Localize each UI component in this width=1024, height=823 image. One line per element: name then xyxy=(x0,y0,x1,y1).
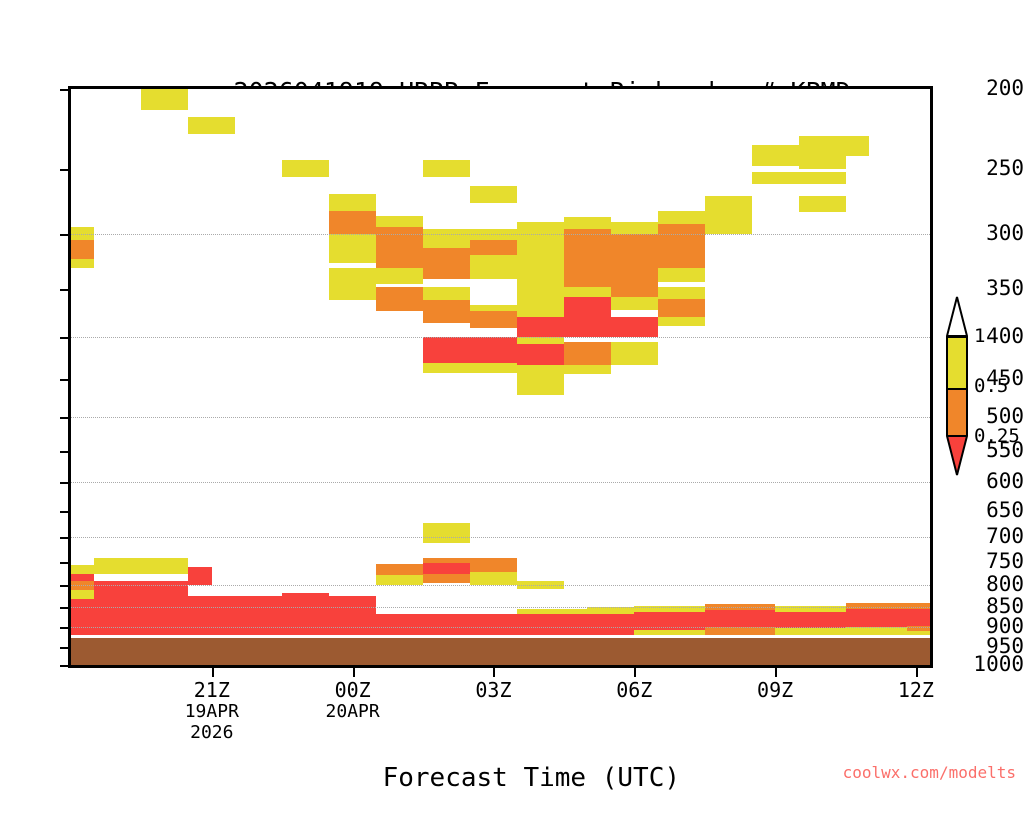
heatmap-cell xyxy=(564,297,611,316)
x-axis-tick-label: 03Z xyxy=(433,679,553,702)
heatmap-cell xyxy=(564,287,611,297)
heatmap-cell xyxy=(329,211,376,234)
heatmap-cell xyxy=(188,567,211,585)
x-axis-tick xyxy=(634,668,636,677)
plot-canvas xyxy=(71,89,930,665)
heatmap-cell xyxy=(517,222,564,234)
heatmap-cell xyxy=(705,627,775,635)
heatmap-cell xyxy=(423,229,470,248)
heatmap-cell xyxy=(564,217,611,229)
x-axis-tick-label: 00Z20APR xyxy=(293,679,413,723)
x-axis-tick xyxy=(493,668,495,677)
x-axis-tick xyxy=(916,668,918,677)
heatmap-cell xyxy=(141,89,188,110)
heatmap-cell xyxy=(423,563,470,574)
gridline-horizontal xyxy=(71,417,930,419)
heatmap-cell xyxy=(611,234,658,287)
heatmap-cell xyxy=(423,160,470,177)
x-axis-tick-label: 12Z xyxy=(856,679,976,702)
heatmap-cell xyxy=(71,581,94,591)
y-axis-tick-label: 300 xyxy=(966,223,1024,244)
heatmap-cell xyxy=(423,300,470,323)
y-axis-tick xyxy=(60,511,69,513)
x-axis-tick xyxy=(212,668,214,677)
heatmap-cell xyxy=(517,317,658,337)
heatmap-cell xyxy=(94,558,188,574)
heatmap-cell xyxy=(423,248,470,279)
heatmap-cell xyxy=(658,287,705,299)
x-tick-time: 03Z xyxy=(475,678,511,702)
heatmap-cell xyxy=(376,216,423,227)
colorbar-band xyxy=(948,388,966,438)
heatmap-cell xyxy=(564,229,611,287)
watermark-text: coolwx.com/modelts xyxy=(843,763,1016,782)
y-axis-tick-label: 600 xyxy=(966,471,1024,492)
heatmap-cell xyxy=(71,599,94,635)
heatmap-cell xyxy=(376,575,423,585)
heatmap-cell xyxy=(799,136,869,156)
heatmap-cell xyxy=(376,268,423,284)
heatmap-cell xyxy=(282,160,329,177)
heatmap-cell xyxy=(71,227,94,240)
heatmap-cell xyxy=(188,585,282,596)
heatmap-cell xyxy=(470,558,517,572)
heatmap-cell xyxy=(188,117,235,135)
colorbar-tick-label: 0.25 xyxy=(974,427,1020,446)
y-axis-tick-label: 800 xyxy=(966,574,1024,595)
heatmap-cell xyxy=(775,628,845,635)
colorbar-legend: 10.50.25 xyxy=(946,296,968,476)
heatmap-cell xyxy=(329,287,376,300)
heatmap-cell xyxy=(329,194,376,211)
heatmap-cell xyxy=(71,259,94,268)
heatmap-cell xyxy=(517,581,564,589)
x-axis-tick-label: 09Z xyxy=(715,679,835,702)
heatmap-cell xyxy=(658,299,705,316)
colorbar-tick-label: 0.5 xyxy=(974,377,1008,396)
heatmap-cell xyxy=(94,581,188,636)
y-axis-tick xyxy=(60,647,69,649)
heatmap-cell xyxy=(423,574,470,583)
heatmap-cell xyxy=(634,612,704,630)
gridline-horizontal xyxy=(71,665,930,667)
heatmap-cell xyxy=(658,224,705,268)
y-axis-tick-label: 350 xyxy=(966,278,1024,299)
x-tick-time: 06Z xyxy=(616,678,652,702)
heatmap-cell xyxy=(517,365,564,395)
y-axis-tick xyxy=(60,234,69,236)
heatmap-cell xyxy=(470,186,517,203)
heatmap-cell xyxy=(282,593,329,602)
x-tick-time: 00Z xyxy=(335,678,371,702)
y-axis-tick-label: 700 xyxy=(966,526,1024,547)
heatmap-cell xyxy=(658,268,705,282)
heatmap-cell xyxy=(705,610,775,627)
heatmap-cell xyxy=(329,247,376,263)
heatmap-cell xyxy=(470,240,517,255)
y-axis-tick xyxy=(60,289,69,291)
y-axis-tick xyxy=(60,627,69,629)
heatmap-cell xyxy=(71,590,94,599)
plot-area xyxy=(68,86,933,668)
heatmap-cell xyxy=(752,145,799,166)
y-axis-tick xyxy=(60,337,69,339)
heatmap-cell xyxy=(329,234,376,247)
heatmap-cell xyxy=(799,196,846,212)
heatmap-cell xyxy=(564,342,611,365)
y-axis-tick-label: 1000 xyxy=(966,654,1024,675)
colorbar-tick-label: 1 xyxy=(974,327,985,346)
heatmap-cell xyxy=(705,196,752,234)
heatmap-cell xyxy=(376,614,517,635)
heatmap-cell xyxy=(611,222,658,234)
heatmap-cell xyxy=(846,609,930,627)
heatmap-cell xyxy=(71,565,94,574)
colorbar-bottom-arrow-icon xyxy=(946,435,968,476)
y-axis-tick xyxy=(60,562,69,564)
colorbar-body xyxy=(946,336,968,436)
heatmap-cell xyxy=(611,297,658,310)
heatmap-cell xyxy=(517,344,564,364)
x-tick-time: 12Z xyxy=(898,678,934,702)
heatmap-cell xyxy=(587,607,634,614)
heatmap-cell xyxy=(587,614,634,636)
heatmap-cell xyxy=(329,268,376,287)
heatmap-cell xyxy=(423,363,517,373)
heatmap-cell xyxy=(658,211,705,225)
chart-root: 2026041919 HRRR Forecast Richardson# KPM… xyxy=(0,0,1024,768)
gridline-horizontal xyxy=(71,482,930,484)
y-axis-tick xyxy=(60,417,69,419)
y-axis-tick-label: 250 xyxy=(966,158,1024,179)
y-axis-tick xyxy=(60,537,69,539)
x-tick-date: 19APR xyxy=(152,702,272,723)
y-axis-tick xyxy=(60,665,69,667)
x-tick-date: 20APR xyxy=(293,702,413,723)
colorbar-top-arrow-icon xyxy=(946,296,968,337)
heatmap-cell xyxy=(658,317,705,326)
heatmap-cell xyxy=(517,612,587,635)
heatmap-cell xyxy=(470,255,517,279)
y-axis-tick xyxy=(60,169,69,171)
heatmap-cell xyxy=(470,311,517,328)
terrain-fill xyxy=(71,635,930,665)
heatmap-cell xyxy=(517,609,587,614)
x-axis-tick-label: 06Z xyxy=(574,679,694,702)
heatmap-cell xyxy=(423,337,517,363)
y-axis-tick-label: 750 xyxy=(966,551,1024,572)
y-axis-tick xyxy=(60,585,69,587)
x-tick-time: 09Z xyxy=(757,678,793,702)
heatmap-cell xyxy=(470,572,517,585)
heatmap-cell xyxy=(470,229,517,240)
x-axis-tick xyxy=(775,668,777,677)
heatmap-cell xyxy=(752,172,846,185)
colorbar-band xyxy=(948,338,966,388)
y-axis-tick xyxy=(60,607,69,609)
heatmap-cell xyxy=(611,287,658,297)
heatmap-cell xyxy=(846,603,930,610)
y-axis-tick xyxy=(60,379,69,381)
heatmap-cell xyxy=(611,342,658,365)
y-axis-tick-label: 200 xyxy=(966,78,1024,99)
watermark: coolwx.com/modelts xyxy=(804,744,1016,801)
y-axis-tick-label: 650 xyxy=(966,500,1024,521)
heatmap-cell xyxy=(71,574,94,581)
heatmap-cell xyxy=(775,612,845,628)
y-axis-tick-label: 500 xyxy=(966,406,1024,427)
heatmap-cell xyxy=(846,627,907,635)
x-tick-time: 21Z xyxy=(194,678,230,702)
heatmap-cell xyxy=(71,240,94,259)
heatmap-cell xyxy=(329,599,376,607)
x-axis-tick xyxy=(353,668,355,677)
heatmap-cell xyxy=(376,227,423,268)
heatmap-cell xyxy=(94,574,188,581)
heatmap-cell xyxy=(799,156,846,169)
heatmap-cell xyxy=(423,523,470,544)
gridline-horizontal xyxy=(71,537,930,539)
y-axis-tick xyxy=(60,451,69,453)
heatmap-cell xyxy=(564,365,611,374)
heatmap-cell xyxy=(423,287,470,300)
y-axis-tick xyxy=(60,482,69,484)
y-axis-tick xyxy=(60,89,69,91)
heatmap-cell xyxy=(376,287,423,311)
heatmap-cell xyxy=(517,234,564,287)
heatmap-cell xyxy=(470,305,517,311)
